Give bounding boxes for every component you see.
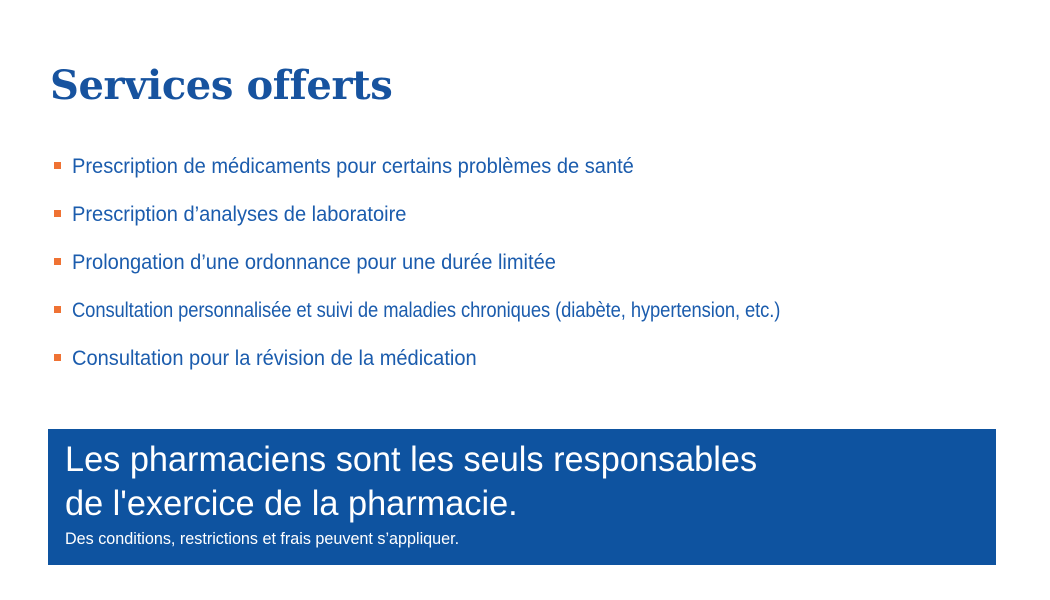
square-bullet-icon [54, 210, 61, 217]
list-item-label: Consultation personnalisée et suivi de m… [72, 298, 780, 323]
list-item: Prescription de médicaments pour certain… [54, 142, 1034, 190]
square-bullet-icon [54, 162, 61, 169]
list-item-label: Prolongation d’une ordonnance pour une d… [72, 250, 556, 275]
square-bullet-icon [54, 354, 61, 361]
list-item-label: Consultation pour la révision de la médi… [72, 346, 477, 371]
slide-canvas: Services offerts Prescription de médicam… [0, 0, 1050, 600]
list-item: Consultation personnalisée et suivi de m… [54, 286, 1034, 334]
callout-disclaimer: Des conditions, restrictions et frais pe… [65, 528, 949, 549]
square-bullet-icon [54, 258, 61, 265]
page-title: Services offerts [50, 63, 392, 109]
list-item: Prolongation d’une ordonnance pour une d… [54, 238, 1034, 286]
list-item-label: Prescription de médicaments pour certain… [72, 154, 634, 179]
callout-line-2: de l'exercice de la pharmacie. [65, 482, 977, 526]
list-item: Prescription d’analyses de laboratoire [54, 190, 1034, 238]
callout-banner: Les pharmaciens sont les seuls responsab… [48, 429, 996, 565]
list-item-label: Prescription d’analyses de laboratoire [72, 202, 406, 227]
list-item: Consultation pour la révision de la médi… [54, 334, 1034, 382]
square-bullet-icon [54, 306, 61, 313]
callout-line-1: Les pharmaciens sont les seuls responsab… [65, 438, 977, 482]
services-bullet-list: Prescription de médicaments pour certain… [54, 142, 1034, 382]
